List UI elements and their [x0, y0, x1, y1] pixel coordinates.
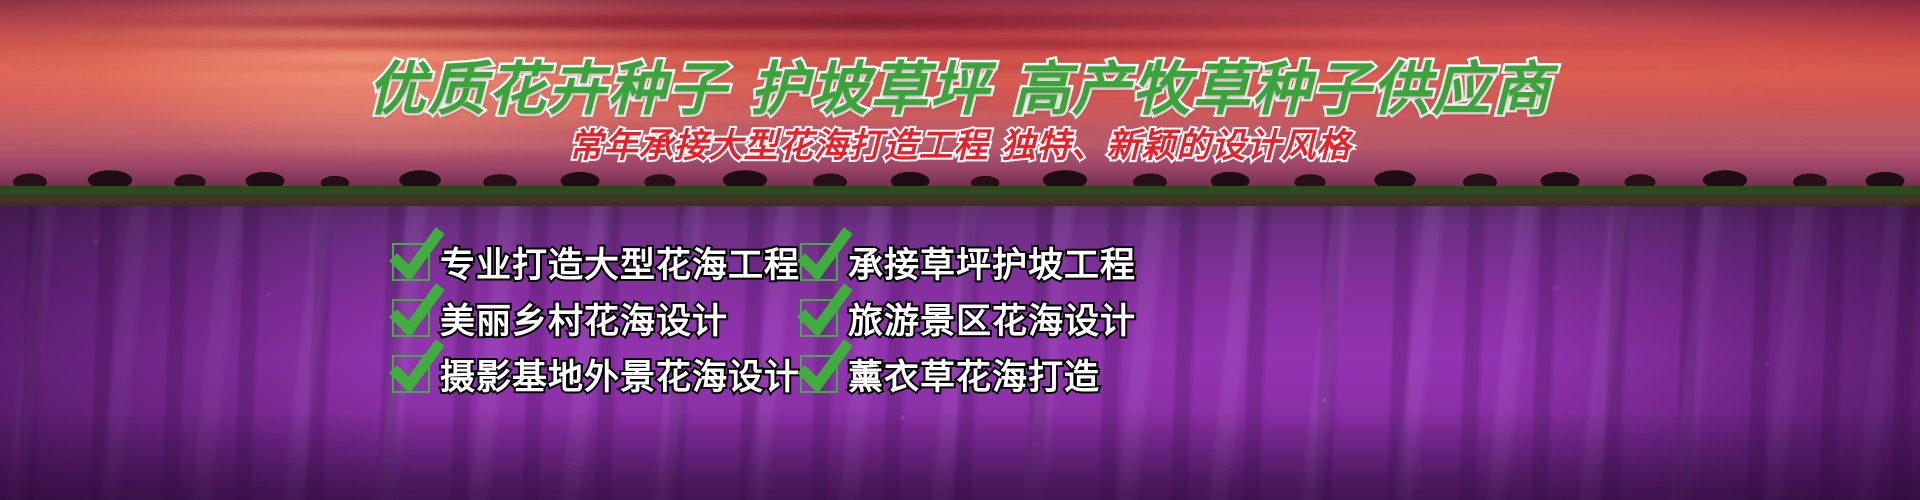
cloud-band: [0, 14, 1920, 30]
list-item-label: 薰衣草花海打造: [848, 349, 1100, 400]
list-item-label: 摄影基地外景花海设计: [440, 349, 800, 400]
check-mark-icon: [800, 243, 838, 281]
list-item: 承接草坪护坡工程: [800, 236, 1220, 288]
field-vignette-bottom: [0, 410, 1920, 500]
list-item: 美丽乡村花海设计: [392, 292, 812, 344]
list-item-label: 旅游景区花海设计: [848, 293, 1136, 344]
list-item: 旅游景区花海设计: [800, 292, 1220, 344]
list-item-label: 专业打造大型花海工程: [440, 237, 800, 288]
list-item-label: 美丽乡村花海设计: [440, 293, 728, 344]
check-mark-icon: [800, 355, 838, 393]
list-item: 摄影基地外景花海设计: [392, 348, 812, 400]
check-mark-icon: [392, 299, 430, 337]
check-mark-icon: [800, 299, 838, 337]
banner-headline: 优质花卉种子 护坡草坪 高产牧草种子供应商: [0, 42, 1920, 126]
feature-list-right: 承接草坪护坡工程 旅游景区花海设计 薰衣草花海打造: [800, 236, 1220, 404]
list-item: 薰衣草花海打造: [800, 348, 1220, 400]
list-item-label: 承接草坪护坡工程: [848, 237, 1136, 288]
check-mark-icon: [392, 243, 430, 281]
list-item: 专业打造大型花海工程: [392, 236, 812, 288]
promo-banner: 优质花卉种子 护坡草坪 高产牧草种子供应商 常年承接大型花海打造工程 独特、新颖…: [0, 0, 1920, 500]
check-mark-icon: [392, 355, 430, 393]
feature-list-left: 专业打造大型花海工程 美丽乡村花海设计 摄影基地外景花海设计: [392, 236, 812, 404]
banner-subheadline: 常年承接大型花海打造工程 独特、新颖的设计风格: [0, 118, 1920, 167]
